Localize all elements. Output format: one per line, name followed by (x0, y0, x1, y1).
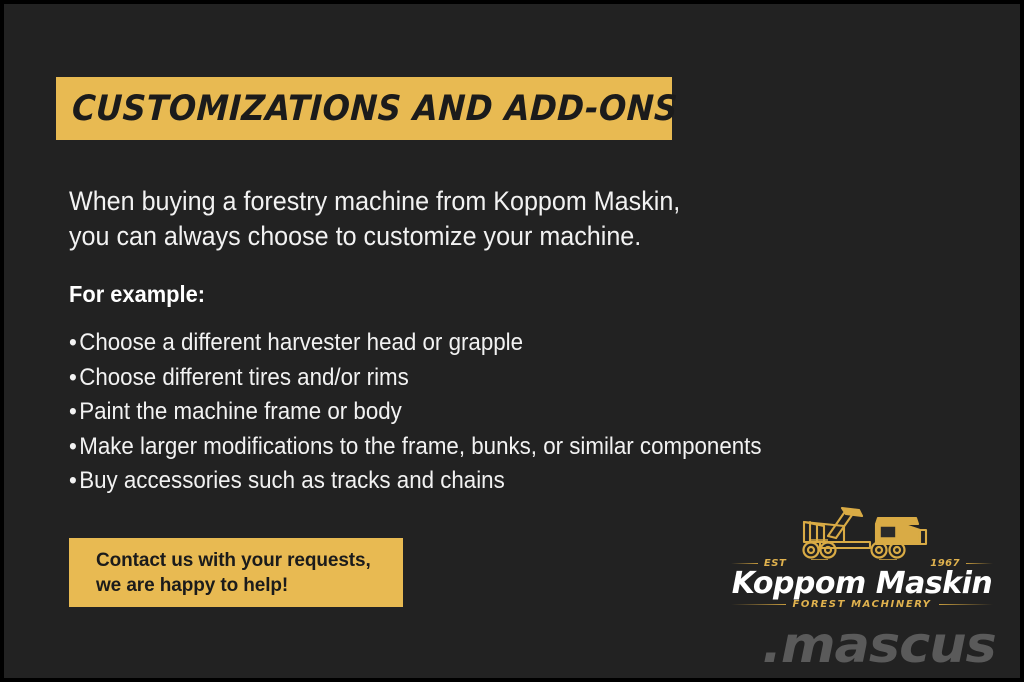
cta-line-1: Contact us with your requests, (96, 548, 403, 573)
tagline-rule-left (731, 604, 786, 605)
intro-line-1: When buying a forestry machine from Kopp… (69, 184, 757, 219)
forestry-machine-icon (784, 504, 949, 560)
page-title: CUSTOMIZATIONS AND ADD-ONS (71, 89, 679, 129)
contact-cta-box[interactable]: Contact us with your requests, we are ha… (69, 538, 403, 607)
logo-tagline-row: FOREST MACHINERY (731, 599, 993, 610)
promotional-slide: CUSTOMIZATIONS AND ADD-ONS When buying a… (0, 0, 1024, 682)
slide-panel: CUSTOMIZATIONS AND ADD-ONS When buying a… (4, 4, 1020, 678)
list-item-label: Make larger modifications to the frame, … (79, 433, 761, 460)
intro-paragraph: When buying a forestry machine from Kopp… (69, 184, 757, 254)
koppom-maskin-logo: EST 1967 Koppom Maskin FOREST MACHINERY (731, 504, 993, 612)
for-example-label: For example: (69, 281, 205, 308)
cta-line-2: we are happy to help! (96, 573, 403, 598)
list-item: •Choose different tires and/or rims (69, 361, 776, 396)
logo-tagline: FOREST MACHINERY (793, 599, 932, 610)
mascus-watermark: .mascus (762, 616, 996, 674)
bullet-icon: • (69, 361, 79, 396)
intro-line-2: you can always choose to customize your … (69, 219, 757, 254)
list-item-label: Paint the machine frame or body (79, 398, 402, 425)
list-item-label: Buy accessories such as tracks and chain… (79, 467, 505, 494)
list-item: •Choose a different harvester head or gr… (69, 326, 776, 361)
list-item-label: Choose a different harvester head or gra… (79, 329, 523, 356)
logo-brand-name: Koppom Maskin (731, 566, 993, 601)
bullet-icon: • (69, 430, 79, 465)
est-rule-left (731, 563, 758, 564)
bullet-icon: • (69, 464, 79, 499)
bullet-icon: • (69, 395, 79, 430)
list-item: •Paint the machine frame or body (69, 395, 776, 430)
est-rule-right (966, 563, 993, 564)
list-item-label: Choose different tires and/or rims (79, 364, 409, 391)
list-item: •Make larger modifications to the frame,… (69, 430, 776, 465)
list-item: •Buy accessories such as tracks and chai… (69, 464, 776, 499)
customization-options-list: •Choose a different harvester head or gr… (69, 326, 829, 499)
bullet-icon: • (69, 326, 79, 361)
tagline-rule-right (939, 604, 994, 605)
heading-banner: CUSTOMIZATIONS AND ADD-ONS (56, 77, 672, 140)
